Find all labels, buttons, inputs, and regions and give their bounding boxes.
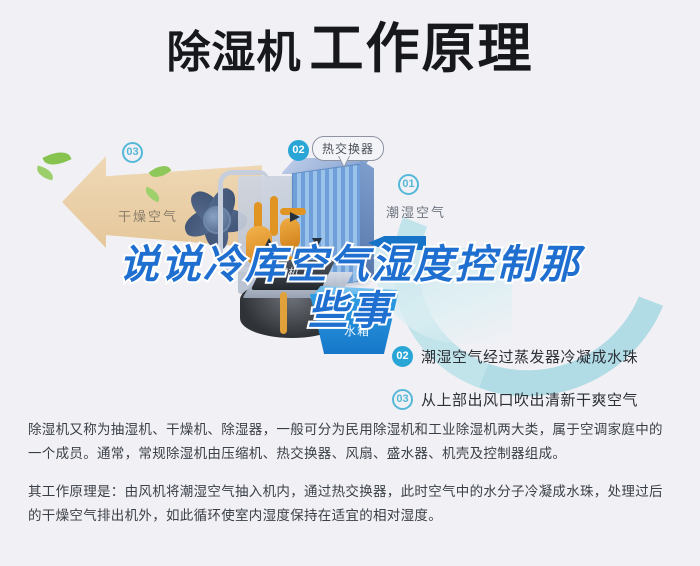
leaf-icon bbox=[35, 165, 55, 180]
title-part-1: 除湿机 bbox=[167, 28, 302, 77]
paragraph-1: 除湿机又称为抽湿机、干燥机、除湿器，一般可分为民用除湿机和工业除湿机两大类，属于… bbox=[28, 418, 676, 466]
list-item: 03 从上部出风口吹出清新干爽空气 bbox=[392, 389, 692, 410]
receiver-tank-small bbox=[280, 218, 300, 250]
badge-01: 01 bbox=[398, 174, 419, 195]
callout-tail-icon bbox=[338, 156, 350, 168]
badge-02: 02 bbox=[288, 140, 309, 161]
list-item: 02 潮湿空气经过蒸发器冷凝成水珠 bbox=[392, 346, 692, 367]
flow-arrow-up-icon bbox=[264, 238, 274, 248]
flow-arrow-right-icon bbox=[290, 212, 300, 222]
legend-text-03: 从上部出风口吹出清新干爽空气 bbox=[421, 389, 638, 410]
copper-tube bbox=[270, 196, 278, 236]
paragraph-2: 其工作原理是：由风机将潮湿空气抽入机内，通过热交换器，此时空气中的水分子冷凝成水… bbox=[28, 480, 676, 528]
title-part-2: 工作原理 bbox=[310, 19, 534, 79]
dry-air-label: 干燥空气 bbox=[118, 206, 178, 225]
legend-badge-03: 03 bbox=[392, 389, 413, 410]
badge-03: 03 bbox=[122, 142, 143, 163]
dehumidifier-diagram: 干燥空气 bbox=[0, 118, 700, 408]
poster-root: 除湿机工作原理 干燥空气 bbox=[0, 0, 700, 566]
legend-badge-02: 02 bbox=[392, 346, 413, 367]
page-title: 除湿机工作原理 bbox=[0, 22, 700, 76]
humid-air-label: 潮湿空气 bbox=[386, 202, 446, 221]
flow-arrow-down-icon bbox=[312, 238, 322, 248]
drain-pipe bbox=[280, 292, 287, 334]
machine-assembly: 压缩机 水箱 bbox=[236, 152, 392, 342]
compressor-label: 压缩机 bbox=[262, 264, 302, 280]
legend-text-02: 潮湿空气经过蒸发器冷凝成水珠 bbox=[421, 346, 638, 367]
evaporator-side bbox=[360, 160, 374, 281]
water-tank-label: 水箱 bbox=[344, 322, 370, 339]
leaf-icon bbox=[42, 147, 71, 169]
body-copy: 除湿机又称为抽湿机、干燥机、除湿器，一般可分为民用除湿机和工业除湿机两大类，属于… bbox=[28, 418, 676, 536]
